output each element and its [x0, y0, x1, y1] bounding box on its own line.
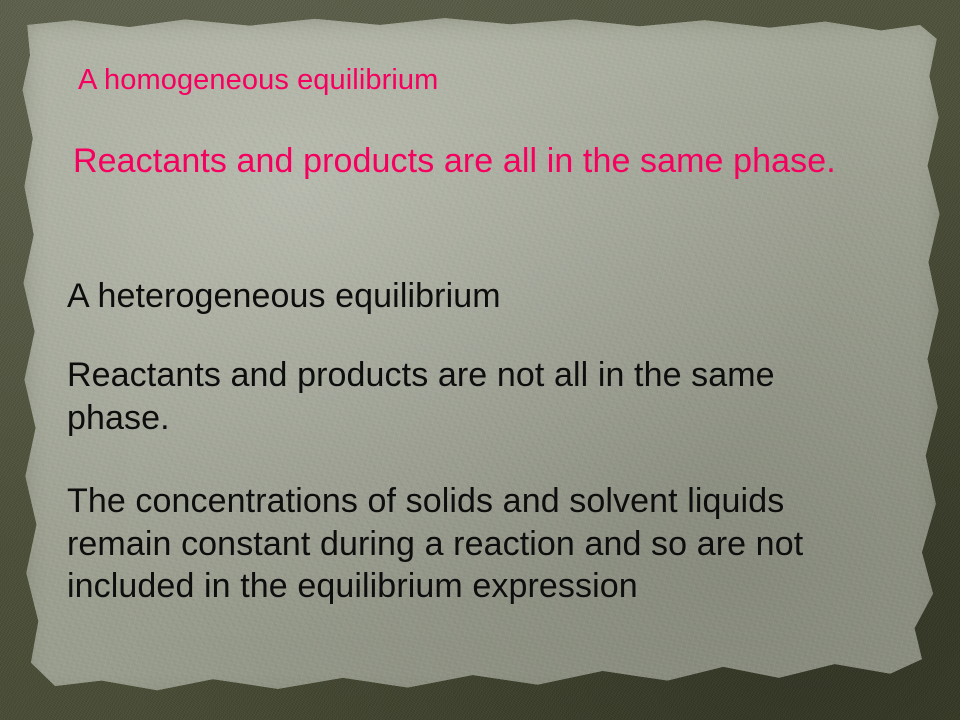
heterogeneous-equilibrium-heading: A heterogeneous equilibrium — [67, 277, 897, 316]
concentration-constancy-note: The concentrations of solids and solvent… — [67, 480, 877, 608]
torn-paper-panel: A homogeneous equilibrium Reactants and … — [18, 14, 946, 704]
homogeneous-equilibrium-heading: A homogeneous equilibrium — [78, 64, 878, 97]
heterogeneous-equilibrium-definition: Reactants and products are not all in th… — [67, 354, 857, 439]
slide-text-content: A homogeneous equilibrium Reactants and … — [18, 14, 946, 704]
slide-canvas: A homogeneous equilibrium Reactants and … — [0, 0, 960, 720]
homogeneous-equilibrium-definition: Reactants and products are all in the sa… — [73, 141, 888, 182]
